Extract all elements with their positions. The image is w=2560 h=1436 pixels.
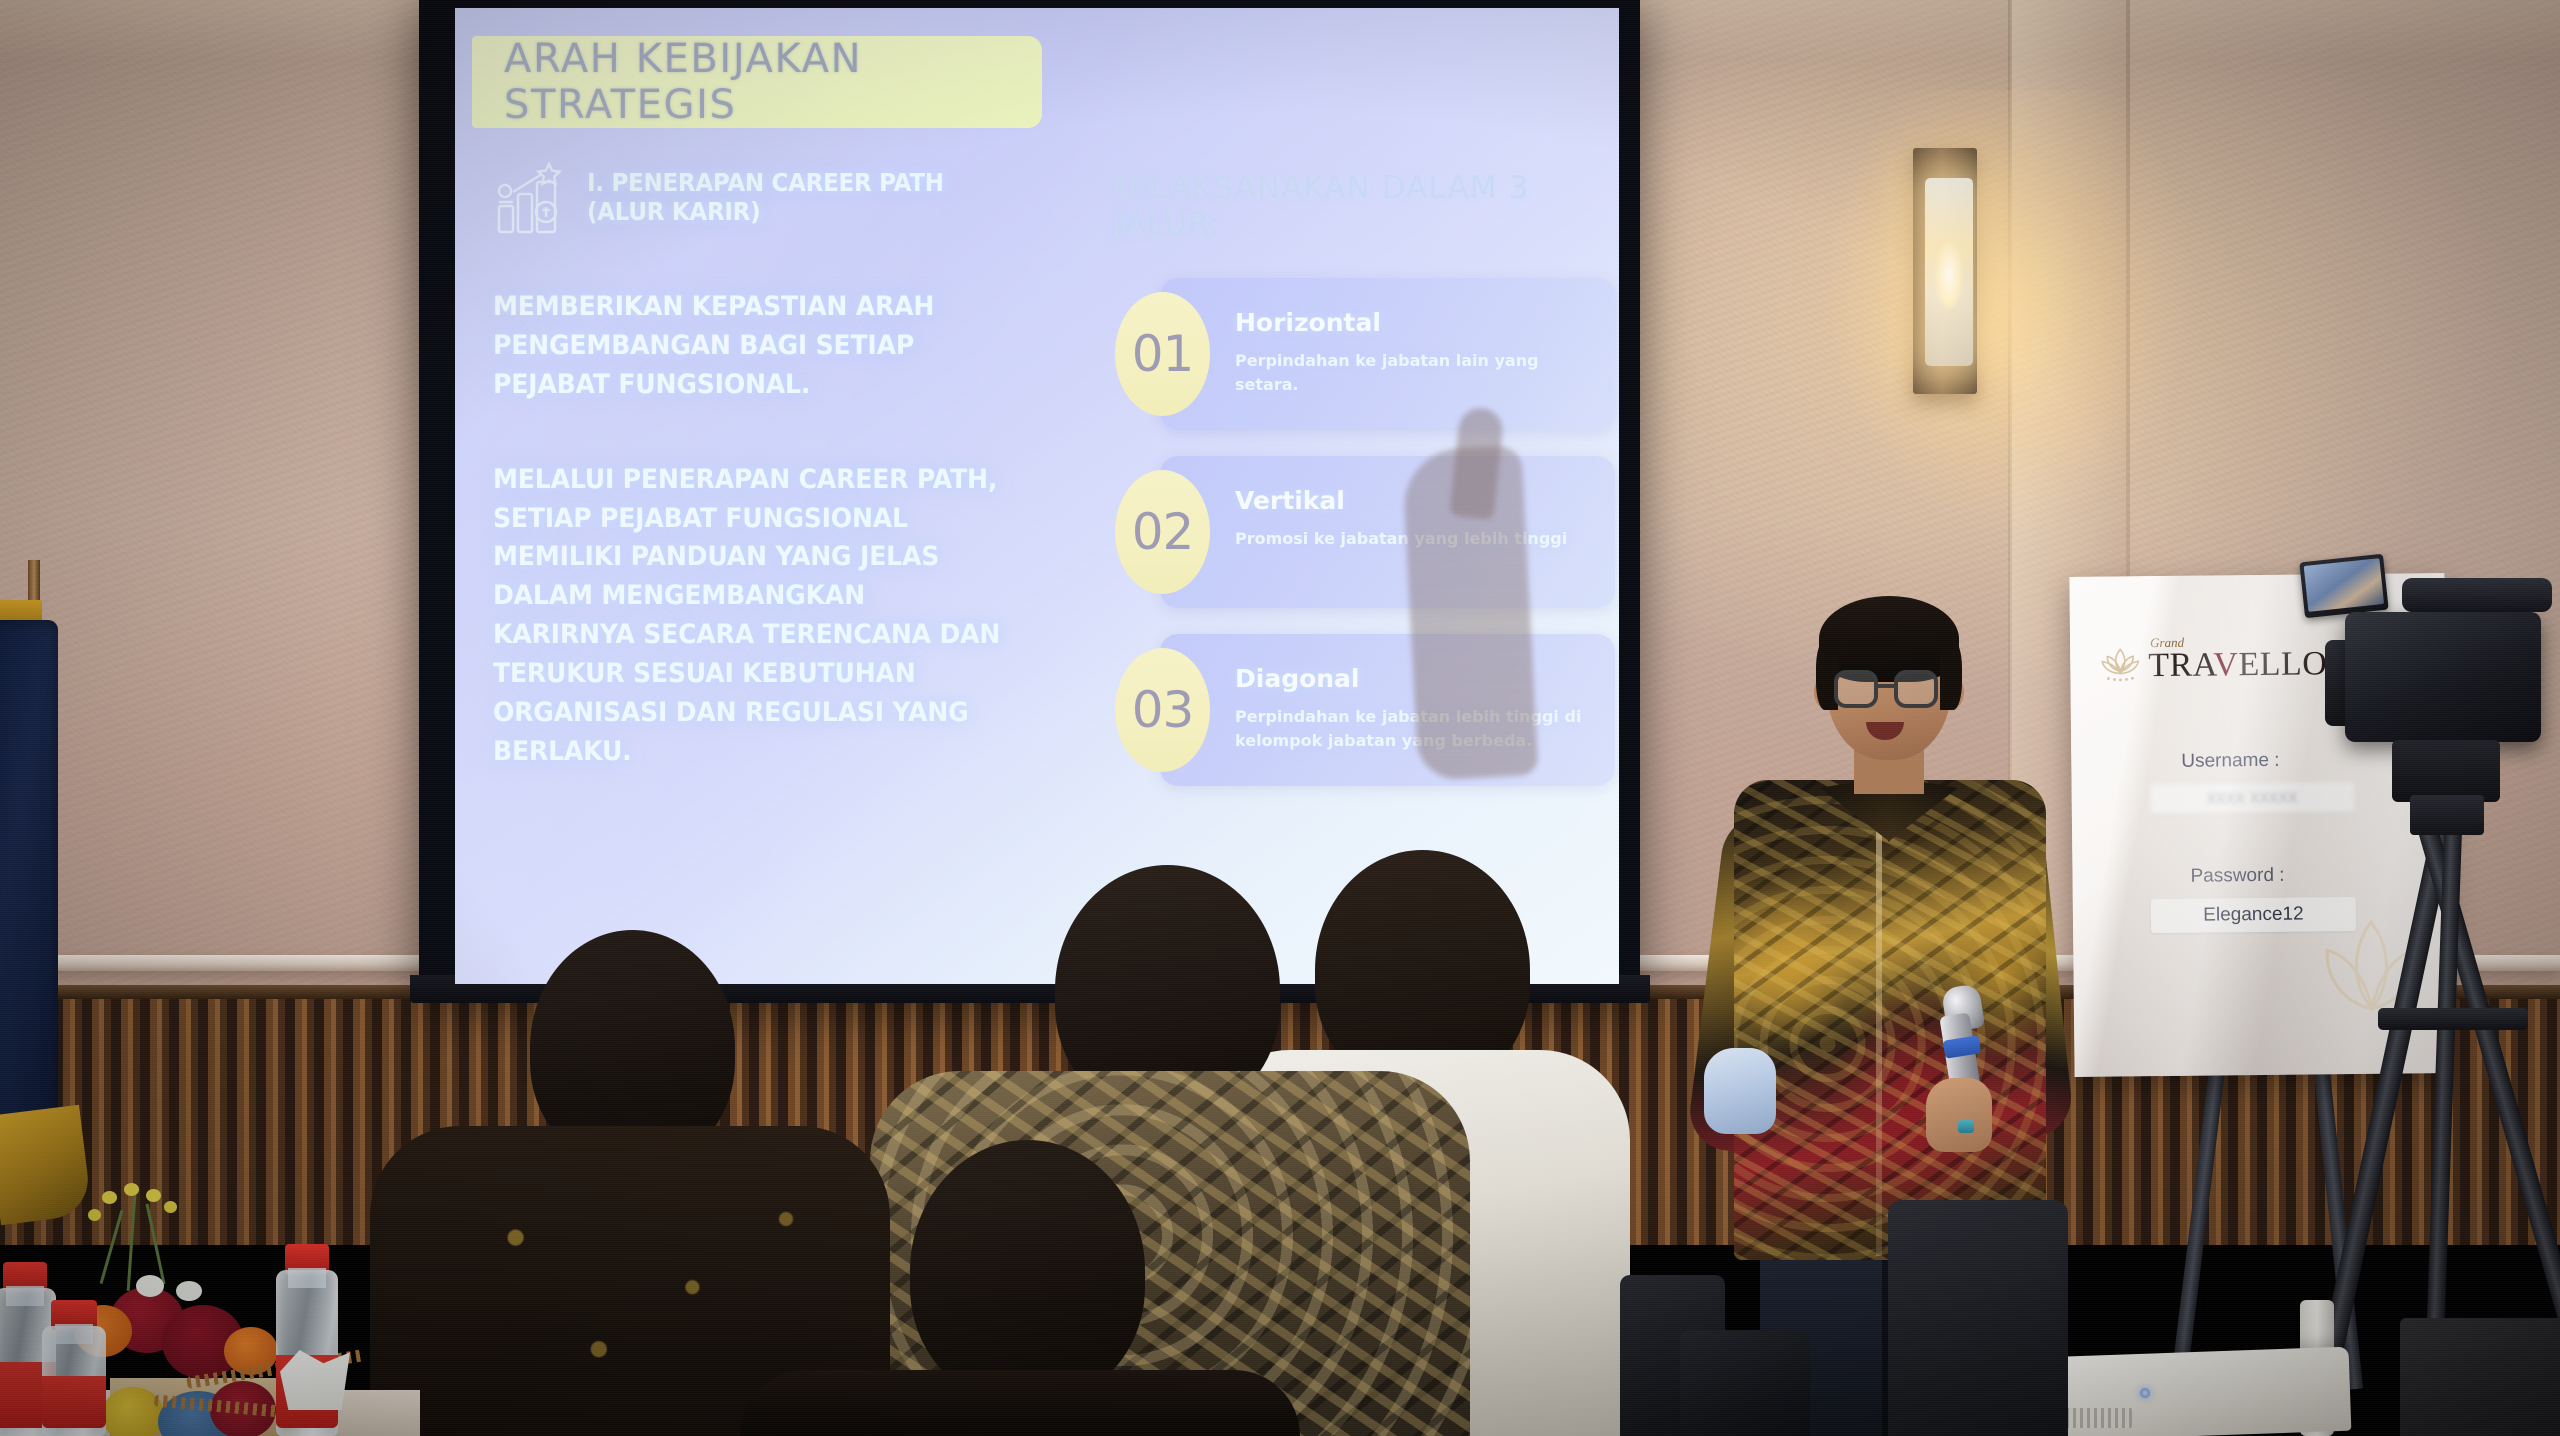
jalur-card-03: Diagonal Perpindahan ke jabatan lebih ti… [1115, 634, 1615, 786]
eyeglasses-right-lens [1894, 670, 1938, 708]
brand-part2: ELLO [2238, 645, 2327, 683]
jalur-card-body: Horizontal Perpindahan ke jabatan lain y… [1160, 278, 1615, 430]
conference-room-scene: ARAH KEBIJAKAN STRATEGIS [0, 0, 2560, 1436]
chair-back-right [1888, 1200, 2068, 1436]
jalur-card-01: Horizontal Perpindahan ke jabatan lain y… [1115, 278, 1615, 430]
username-value: xxxx xxxxx [2150, 782, 2355, 814]
slide-right-heading: DILAKSANAKAN DALAM 3 JALUR: [1115, 170, 1615, 242]
presenter-raised-hand [1704, 1048, 1776, 1134]
jalur-card-02: Vertikal Promosi ke jabatan yang lebih t… [1115, 456, 1615, 608]
ceremonial-flag-icon [0, 620, 58, 1180]
presenter-hand-holding-mic [1926, 1078, 1992, 1152]
white-flower [176, 1281, 202, 1301]
projector-status-led [2140, 1388, 2150, 1398]
jalur-title: Horizontal [1235, 308, 1589, 337]
attendee-foreground [740, 1140, 1300, 1436]
yellow-bud [146, 1189, 161, 1202]
slide-left-heading-row: I. PENERAPAN CAREER PATH (ALUR KARIR) [493, 158, 1053, 236]
jalur-number: 02 [1132, 503, 1194, 561]
presenter-ring [1958, 1120, 1974, 1133]
slide-right-column: DILAKSANAKAN DALAM 3 JALUR: Horizontal P… [1115, 170, 1615, 812]
camera-lcd-image [2304, 558, 2384, 612]
presentation-slide: ARAH KEBIJAKAN STRATEGIS [455, 8, 1619, 984]
yellow-flower [102, 1387, 164, 1436]
yellow-bud [164, 1201, 177, 1213]
camera-top-handle [2402, 578, 2552, 612]
brand-part1: TRA [2148, 646, 2214, 684]
flower-stem [127, 1195, 137, 1291]
flower-stem [146, 1204, 166, 1285]
video-camera-icon [2345, 612, 2541, 742]
white-flower [136, 1275, 164, 1297]
slide-left-column: I. PENERAPAN CAREER PATH (ALUR KARIR) ME… [493, 158, 1053, 772]
attendee-head [910, 1140, 1145, 1402]
jalur-number-badge: 01 [1115, 292, 1210, 416]
slide-title: ARAH KEBIJAKAN STRATEGIS [504, 36, 1042, 128]
water-bottle[interactable] [42, 1300, 106, 1436]
loudspeaker-icon [2400, 1318, 2560, 1436]
eyeglasses-icon [1834, 670, 1878, 708]
slide-left-paragraph-2: MELALUI PENERAPAN CAREER PATH, SETIAP PE… [493, 461, 1014, 772]
jalur-number: 01 [1132, 325, 1194, 383]
jalur-number-badge: 02 [1115, 470, 1210, 594]
slide-left-paragraph-1: MEMBERIKAN KEPASTIAN ARAH PENGEMBANGAN B… [493, 288, 1014, 405]
jalur-number: 03 [1132, 681, 1194, 739]
lotus-icon [2098, 643, 2142, 683]
sconce-bulb [1936, 240, 1962, 308]
presenter-hair [1819, 596, 1959, 682]
career-growth-chart-icon [493, 158, 571, 236]
batik-pattern [1734, 780, 2046, 1260]
brand-v: V [2213, 646, 2238, 683]
jalur-number-badge: 03 [1115, 648, 1210, 772]
flower-stem [100, 1210, 124, 1284]
yellow-bud [88, 1209, 101, 1221]
jalur-card-body: Diagonal Perpindahan ke jabatan lebih ti… [1160, 634, 1615, 786]
jalur-description: Perpindahan ke jabatan lain yang setara. [1235, 349, 1589, 397]
yellow-bud [124, 1183, 139, 1196]
bottle-label [42, 1376, 106, 1428]
tripod-head [2410, 795, 2484, 835]
attendee-shoulders [740, 1370, 1300, 1436]
tripod-spreader [2378, 1008, 2528, 1030]
yellow-bud [102, 1191, 117, 1204]
camera-lcd-screen[interactable] [2299, 554, 2388, 618]
chair-back-center-2 [1680, 1330, 1810, 1436]
presenter-batik-shirt [1734, 780, 2046, 1260]
password-label: Password : [2190, 865, 2284, 888]
shirt-placket [1876, 786, 1882, 1256]
presenter-hair-right [1940, 640, 1962, 710]
slide-left-heading: I. PENERAPAN CAREER PATH (ALUR KARIR) [587, 168, 1016, 226]
jalur-card-body: Vertikal Promosi ke jabatan yang lebih t… [1160, 456, 1615, 608]
eyeglasses-bridge [1878, 684, 1894, 688]
slide-title-band: ARAH KEBIJAKAN STRATEGIS [472, 36, 1042, 128]
tripod-mount [2392, 740, 2500, 802]
username-label: Username : [2181, 750, 2279, 773]
